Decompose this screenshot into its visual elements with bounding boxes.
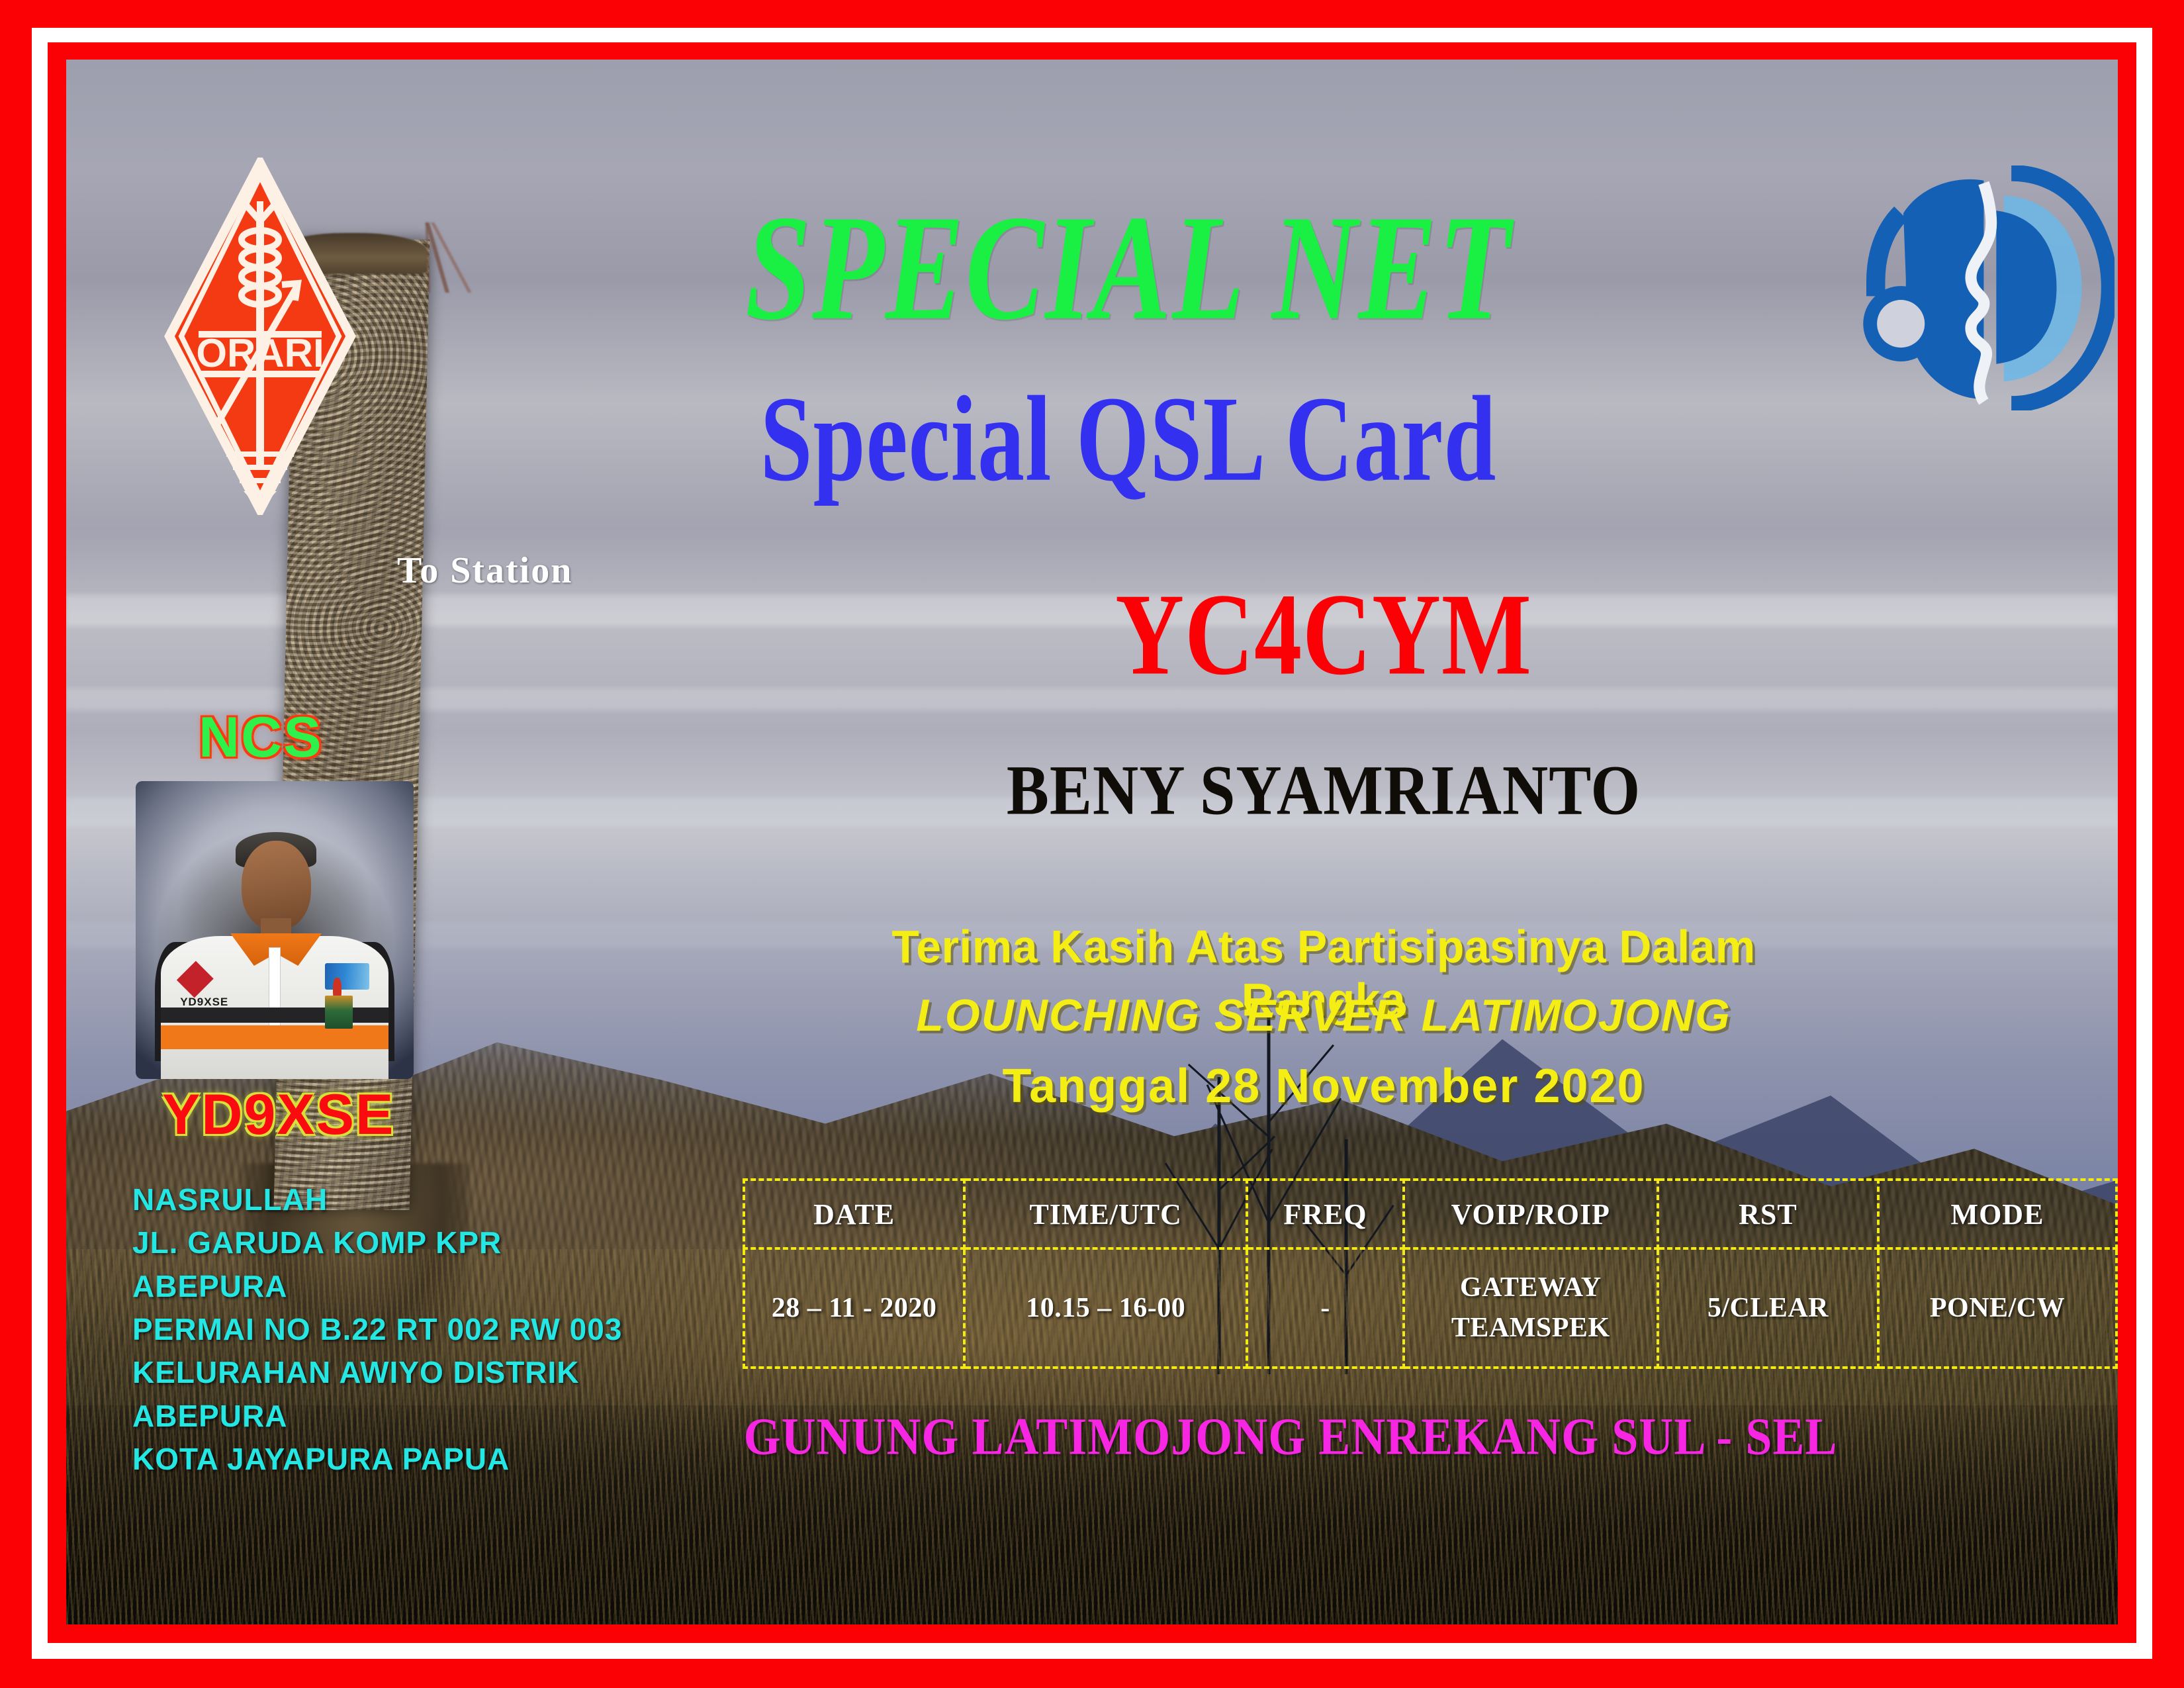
thanks-line-2: LOUNCHING SERVER LATIMOJONG — [814, 990, 1833, 1041]
cell-freq: - — [1247, 1248, 1403, 1368]
cell-mode: PONE/CW — [1878, 1248, 2116, 1368]
table-header-row: DATE TIME/UTC FREQ VOIP/ROIP RST MODE — [744, 1180, 2116, 1248]
uniform-callsign-text: YD9XSE — [180, 996, 252, 1011]
address-line: KOTA JAYAPURA PAPUA — [132, 1438, 622, 1481]
page-subtitle-qsl-card: Special QSL Card — [490, 377, 1767, 500]
card-photo-stage: ORARI — [66, 60, 2118, 1624]
address-line: NASRULLAH — [132, 1178, 622, 1221]
headset-profile-logo-icon — [1863, 165, 2115, 410]
page-title-special-net: SPECIAL NET — [490, 192, 1767, 343]
station-address-block: NASRULLAH JL. GARUDA KOMP KPR ABEPURA PE… — [132, 1178, 622, 1481]
column-header-mode: MODE — [1878, 1180, 2116, 1248]
column-header-rst: RST — [1658, 1180, 1878, 1248]
operator-name: BENY SYAMRIANTO — [893, 755, 1754, 826]
thanks-line-3: Tanggal 28 November 2020 — [814, 1059, 1833, 1113]
orari-logo-text: ORARI — [196, 331, 324, 375]
cell-rst: 5/CLEAR — [1658, 1248, 1878, 1368]
station-callsign: YC4CYM — [911, 576, 1737, 693]
table-row: 28 – 11 - 2020 10.15 – 16-00 - GATEWAYTE… — [744, 1248, 2116, 1368]
card-inner-red-frame: ORARI — [48, 42, 2136, 1643]
address-line: JL. GARUDA KOMP KPR — [132, 1221, 622, 1264]
to-station-label: To Station — [397, 549, 572, 592]
column-header-voip-roip: VOIP/ROIP — [1404, 1180, 1658, 1248]
address-line: KELURAHAN AWIYO DISTRIK — [132, 1351, 622, 1394]
column-header-freq: FREQ — [1247, 1180, 1403, 1248]
ncs-label: NCS — [199, 705, 323, 771]
address-line: ABEPURA — [132, 1265, 622, 1308]
qso-details-table: DATE TIME/UTC FREQ VOIP/ROIP RST MODE 28… — [743, 1178, 2118, 1369]
card-content-overlay: ORARI — [66, 60, 2118, 1624]
cell-voip-roip: GATEWAYTEAMSPEK — [1404, 1248, 1658, 1368]
cell-date: 28 – 11 - 2020 — [744, 1248, 964, 1368]
location-line: GUNUNG LATIMOJONG ENREKANG SUL - SEL — [662, 1407, 1919, 1467]
address-line: PERMAI NO B.22 RT 002 RW 003 — [132, 1308, 622, 1351]
ncs-operator-avatar: YD9XSE — [136, 781, 414, 1079]
ncs-callsign: YD9XSE — [162, 1082, 394, 1148]
cell-time-utc: 10.15 – 16-00 — [964, 1248, 1247, 1368]
column-header-date: DATE — [744, 1180, 964, 1248]
card-white-frame: ORARI — [32, 28, 2152, 1659]
column-header-time-utc: TIME/UTC — [964, 1180, 1247, 1248]
address-line: ABEPURA — [132, 1395, 622, 1438]
orari-logo-icon: ORARI — [164, 158, 356, 515]
qsl-card: ORARI — [0, 0, 2184, 1688]
